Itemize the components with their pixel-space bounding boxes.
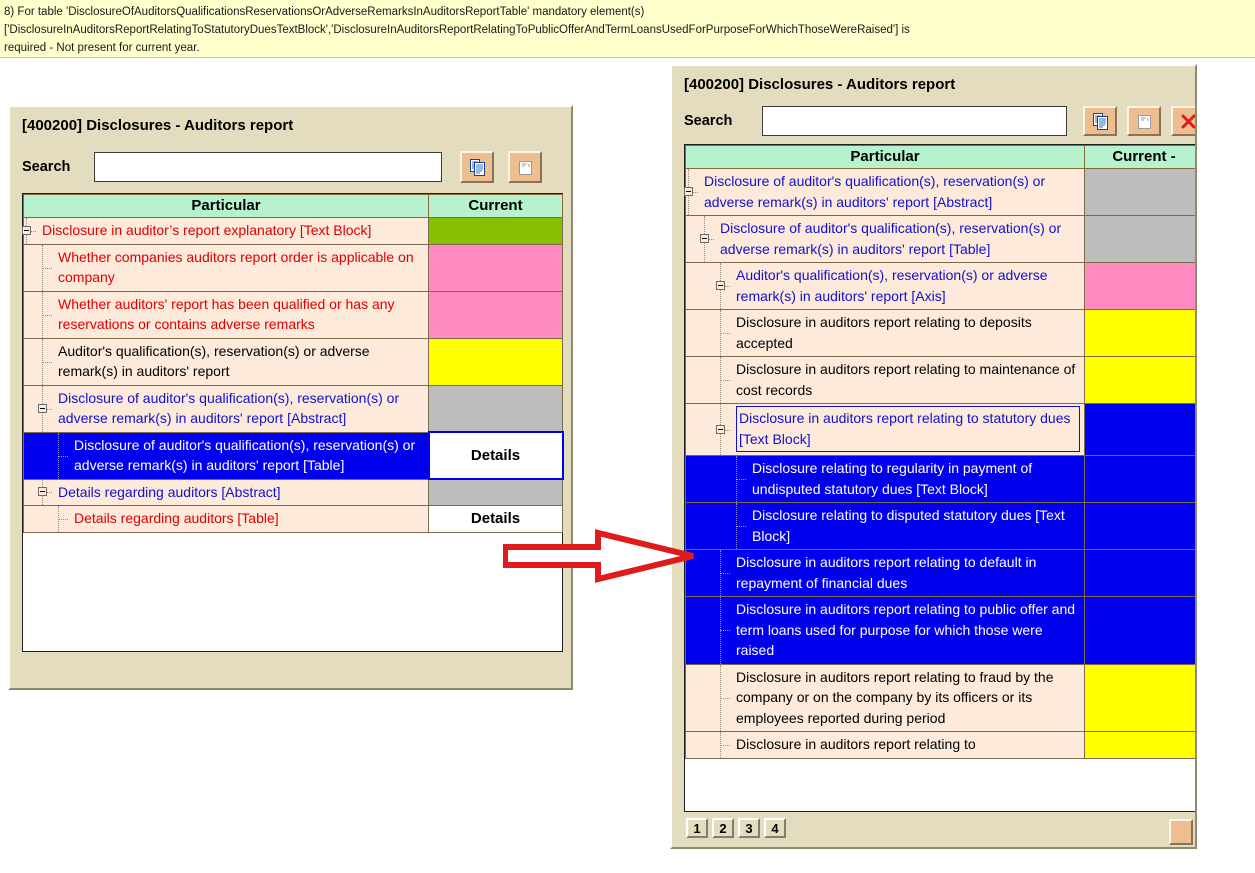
cell-particular[interactable]: Disclosure of auditor's qualification(s)… — [686, 216, 1085, 263]
right-grid: Particular Current - Disclosure of audit… — [684, 144, 1197, 812]
col-particular[interactable]: Particular — [686, 146, 1085, 169]
table-row[interactable]: Disclosure in auditors report relating t… — [686, 404, 1198, 456]
right-header-row: Particular Current - — [686, 146, 1198, 169]
row-label: Disclosure of auditor's qualification(s)… — [74, 433, 428, 479]
row-label: Disclosure in auditors report relating t… — [736, 550, 1084, 596]
page-button-3[interactable]: 3 — [738, 818, 760, 838]
table-row[interactable]: Whether auditors' report has been qualif… — [24, 291, 563, 338]
banner-line-2: ['DisclosureInAuditorsReportRelatingToSt… — [4, 21, 1251, 39]
row-label: Whether auditors' report has been qualif… — [58, 292, 428, 338]
left-paste-button[interactable] — [508, 151, 542, 183]
cell-current-value[interactable] — [1085, 404, 1198, 456]
validation-banner: 8) For table 'DisclosureOfAuditorsQualif… — [0, 0, 1255, 58]
copy-icon — [469, 159, 486, 176]
cell-particular[interactable]: Auditor's qualification(s), reservation(… — [24, 338, 429, 385]
page-button-1[interactable]: 1 — [686, 818, 708, 838]
left-search-label: Search — [22, 159, 94, 175]
copy-icon — [1092, 113, 1109, 130]
collapse-toggle-icon[interactable] — [38, 487, 47, 496]
col-particular[interactable]: Particular — [24, 195, 429, 218]
page-button-4[interactable]: 4 — [764, 818, 786, 838]
cell-particular[interactable]: Auditor's qualification(s), reservation(… — [686, 263, 1085, 310]
tree-guide-horizontal — [42, 362, 52, 363]
tree-guide-horizontal — [720, 745, 730, 746]
cell-current-value[interactable] — [1085, 503, 1198, 550]
left-search-input[interactable] — [94, 152, 442, 182]
row-label: Whether companies auditors report order … — [58, 245, 428, 291]
collapse-toggle-icon[interactable] — [684, 187, 693, 196]
cell-particular[interactable]: Disclosure in auditor’s report explanato… — [24, 218, 429, 245]
table-row[interactable]: Disclosure of auditor's qualification(s)… — [686, 216, 1198, 263]
tree-guide-horizontal — [42, 315, 52, 316]
cell-particular[interactable]: Disclosure in auditors report relating t… — [686, 664, 1085, 732]
banner-line-1: 8) For table 'DisclosureOfAuditorsQualif… — [4, 3, 1251, 21]
cell-current-value[interactable] — [1085, 664, 1198, 732]
cell-particular[interactable]: Disclosure of auditor's qualification(s)… — [24, 432, 429, 479]
cell-particular[interactable]: Disclosure of auditor's qualification(s)… — [24, 385, 429, 432]
tree-guide-horizontal — [720, 698, 730, 699]
left-header-row: Particular Current — [24, 195, 563, 218]
table-row[interactable]: Details regarding auditors [Table]Detail… — [24, 506, 563, 533]
red-x-icon — [1180, 113, 1197, 130]
row-label: Disclosure of auditor's qualification(s)… — [720, 216, 1084, 262]
tree-guide-horizontal — [736, 479, 746, 480]
cell-particular[interactable]: Disclosure relating to disputed statutor… — [686, 503, 1085, 550]
row-label: Disclosure relating to regularity in pay… — [752, 456, 1084, 502]
cell-particular[interactable]: Disclosure in auditors report relating t… — [686, 404, 1085, 456]
cell-particular[interactable]: Whether companies auditors report order … — [24, 244, 429, 291]
collapse-toggle-icon[interactable] — [700, 234, 709, 243]
collapse-toggle-icon[interactable] — [716, 425, 725, 434]
left-grid: Particular Current Disclosure in auditor… — [22, 193, 563, 652]
table-row[interactable]: Disclosure relating to disputed statutor… — [686, 503, 1198, 550]
col-current[interactable]: Current - — [1085, 146, 1198, 169]
row-label: Auditor's qualification(s), reservation(… — [736, 263, 1084, 309]
right-panel-title: [400200] Disclosures - Auditors report — [684, 76, 955, 93]
table-row[interactable]: Disclosure relating to regularity in pay… — [686, 456, 1198, 503]
left-search-row: Search — [22, 151, 567, 183]
row-label: Disclosure relating to disputed statutor… — [752, 503, 1084, 549]
paste-icon — [1136, 113, 1153, 130]
cell-current-value[interactable] — [1085, 357, 1198, 404]
cell-particular[interactable]: Disclosure in auditors report relating t… — [686, 732, 1085, 759]
collapse-toggle-icon[interactable] — [716, 281, 725, 290]
row-label: Disclosure in auditor’s report explanato… — [42, 218, 428, 244]
cell-particular[interactable]: Disclosure in auditors report relating t… — [686, 597, 1085, 665]
right-table-body: Disclosure of auditor's qualification(s)… — [686, 169, 1198, 759]
table-row[interactable]: Disclosure in auditors report relating t… — [686, 357, 1198, 404]
table-row[interactable]: Disclosure in auditors report relating t… — [686, 732, 1198, 759]
cell-particular[interactable]: Details regarding auditors [Table] — [24, 506, 429, 533]
table-row[interactable]: Disclosure of auditor's qualification(s)… — [686, 169, 1198, 216]
cell-current-value[interactable] — [1085, 263, 1198, 310]
right-search-input[interactable] — [762, 106, 1067, 136]
cell-current-value[interactable] — [1085, 169, 1198, 216]
row-label: Disclosure in auditors report relating t… — [736, 597, 1084, 664]
cell-current-value[interactable] — [429, 218, 563, 245]
tree-guide-horizontal — [58, 456, 68, 457]
left-disclosures-panel: [400200] Disclosures - Auditors report S… — [8, 105, 573, 690]
left-panel-title: [400200] Disclosures - Auditors report — [22, 117, 293, 134]
row-label: Disclosure in auditors report relating t… — [736, 665, 1084, 732]
table-row[interactable]: Disclosure in auditors report relating t… — [686, 550, 1198, 597]
table-row[interactable]: Disclosure in auditors report relating t… — [686, 597, 1198, 665]
cell-particular[interactable]: Disclosure in auditors report relating t… — [686, 550, 1085, 597]
cell-current-value[interactable] — [1085, 597, 1198, 665]
tree-guide-horizontal — [720, 333, 730, 334]
table-row[interactable]: Disclosure in auditor’s report explanato… — [24, 218, 563, 245]
row-label: Disclosure of auditor's qualification(s)… — [704, 169, 1084, 215]
cell-current-value[interactable] — [1085, 310, 1198, 357]
cell-particular[interactable]: Disclosure relating to regularity in pay… — [686, 456, 1085, 503]
tree-guide-horizontal — [58, 519, 68, 520]
cell-current-value[interactable] — [429, 338, 563, 385]
right-delete-button[interactable] — [1171, 106, 1197, 136]
cell-particular[interactable]: Disclosure of auditor's qualification(s)… — [686, 169, 1085, 216]
cell-current-value[interactable] — [1085, 732, 1198, 759]
table-row[interactable]: Auditor's qualification(s), reservation(… — [24, 338, 563, 385]
right-paste-button[interactable] — [1127, 106, 1161, 136]
tree-guide-horizontal — [42, 268, 52, 269]
collapse-toggle-icon[interactable] — [22, 226, 31, 235]
resize-grip-button[interactable] — [1169, 819, 1193, 845]
table-row[interactable]: Details regarding auditors [Abstract] — [24, 479, 563, 506]
tree-guide-horizontal — [720, 630, 730, 631]
left-copy-button[interactable] — [460, 151, 494, 183]
pagination-bar: 1234 — [686, 818, 790, 838]
tree-guide-horizontal — [720, 380, 730, 381]
cell-current-value[interactable] — [429, 244, 563, 291]
table-row[interactable]: Disclosure in auditors report relating t… — [686, 310, 1198, 357]
cell-current-value[interactable] — [1085, 216, 1198, 263]
tree-guide-horizontal — [720, 573, 730, 574]
row-label: Disclosure in auditors report relating t… — [736, 310, 1084, 356]
cell-current-value[interactable] — [429, 291, 563, 338]
cell-current-value[interactable] — [1085, 456, 1198, 503]
row-label-focus: Disclosure in auditors report relating t… — [736, 406, 1080, 452]
red-arrow-annotation — [503, 525, 703, 587]
paste-icon — [517, 159, 534, 176]
banner-line-3: required - Not present for current year. — [4, 39, 1251, 57]
row-label: Details regarding auditors [Table] — [74, 506, 428, 532]
cell-current-value[interactable]: Details — [429, 432, 563, 479]
right-disclosure-table: Particular Current - Disclosure of audit… — [685, 145, 1197, 759]
cell-current-value[interactable] — [429, 479, 563, 506]
cell-particular[interactable]: Disclosure in auditors report relating t… — [686, 357, 1085, 404]
row-label: Disclosure in auditors report relating t… — [736, 732, 1084, 758]
tree-guide-horizontal — [736, 526, 746, 527]
right-copy-button[interactable] — [1083, 106, 1117, 136]
left-table-body: Disclosure in auditor’s report explanato… — [24, 218, 563, 533]
right-disclosures-panel: [400200] Disclosures - Auditors report S… — [670, 64, 1197, 849]
row-label: Details regarding auditors [Abstract] — [58, 480, 428, 506]
left-disclosure-table: Particular Current Disclosure in auditor… — [23, 194, 564, 533]
cell-current-value[interactable] — [1085, 550, 1198, 597]
cell-current-value[interactable] — [429, 385, 563, 432]
row-label: Disclosure in auditors report relating t… — [736, 404, 1084, 455]
cell-particular[interactable]: Whether auditors' report has been qualif… — [24, 291, 429, 338]
row-label: Auditor's qualification(s), reservation(… — [58, 339, 428, 385]
col-current[interactable]: Current — [429, 195, 563, 218]
cell-particular[interactable]: Details regarding auditors [Abstract] — [24, 479, 429, 506]
table-row[interactable]: Disclosure of auditor's qualification(s)… — [24, 385, 563, 432]
right-search-label: Search — [684, 113, 762, 129]
cell-particular[interactable]: Disclosure in auditors report relating t… — [686, 310, 1085, 357]
details-link[interactable]: Details — [430, 447, 562, 464]
row-label: Disclosure in auditors report relating t… — [736, 357, 1084, 403]
page-button-2[interactable]: 2 — [712, 818, 734, 838]
table-row[interactable]: Disclosure in auditors report relating t… — [686, 664, 1198, 732]
right-search-row: Search — [684, 106, 1197, 136]
collapse-toggle-icon[interactable] — [38, 404, 47, 413]
table-row[interactable]: Disclosure of auditor's qualification(s)… — [24, 432, 563, 479]
table-row[interactable]: Whether companies auditors report order … — [24, 244, 563, 291]
table-row[interactable]: Auditor's qualification(s), reservation(… — [686, 263, 1198, 310]
row-label: Disclosure of auditor's qualification(s)… — [58, 386, 428, 432]
